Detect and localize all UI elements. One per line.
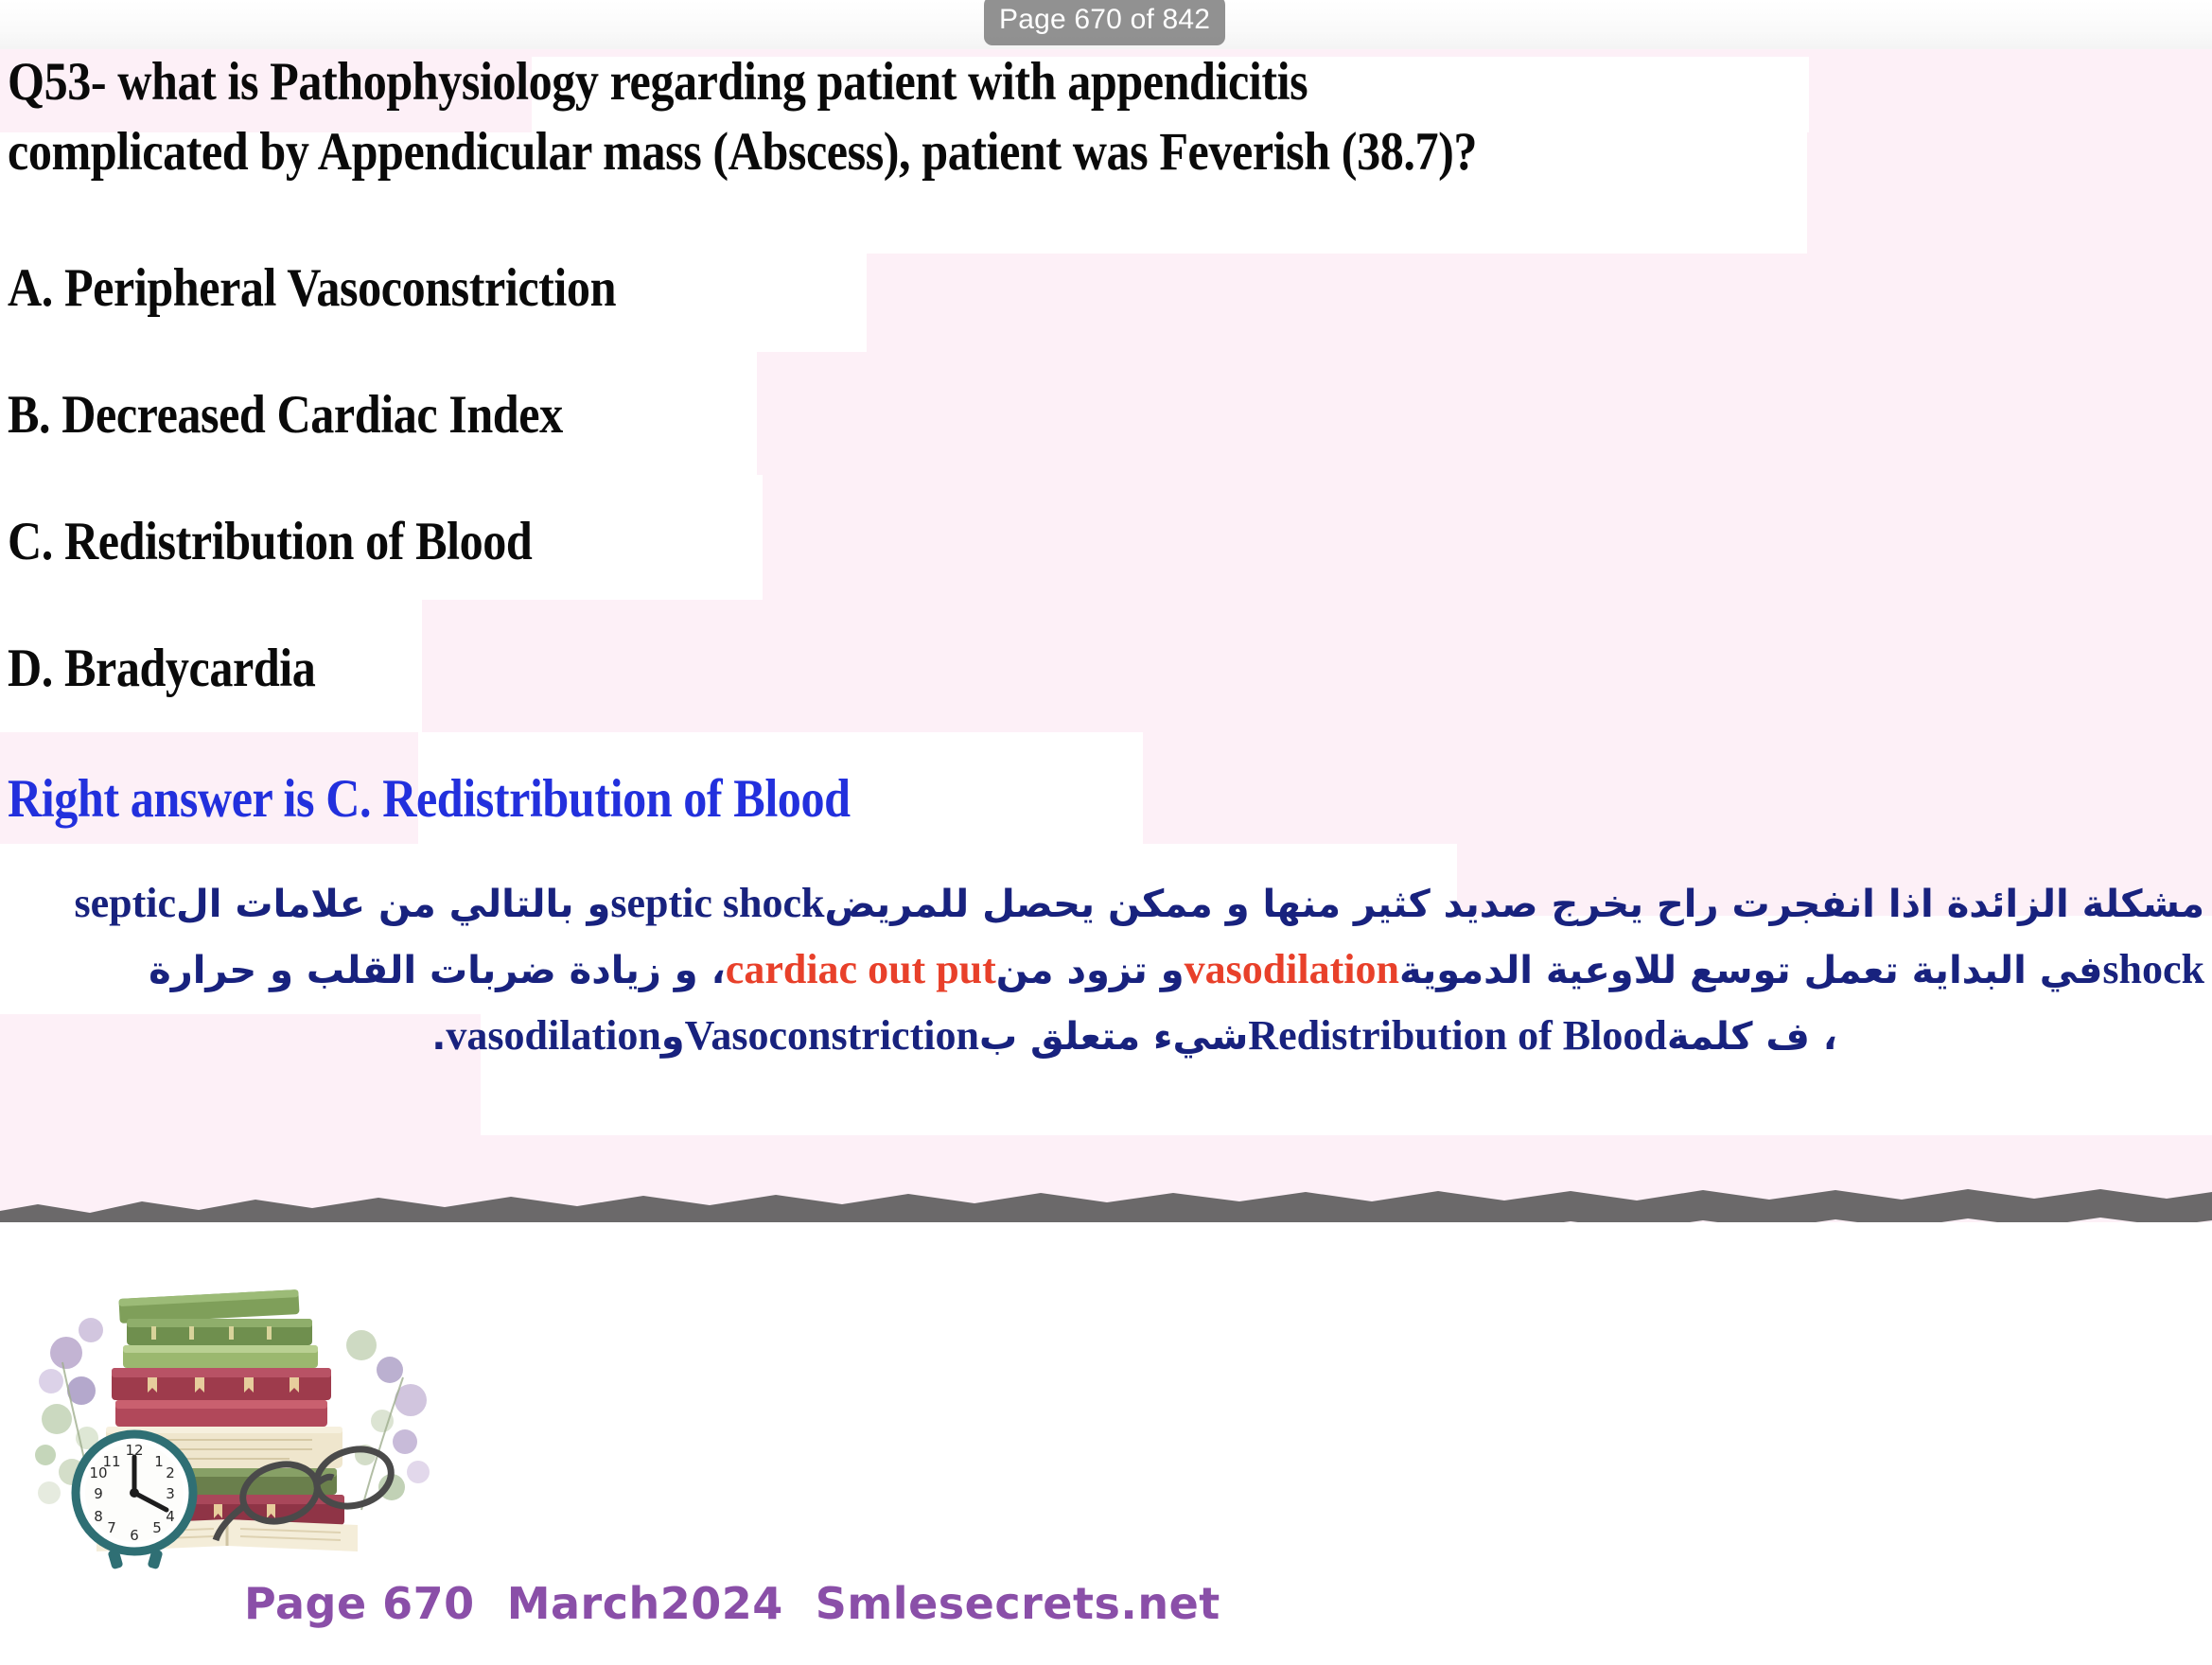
- page-indicator-badge: Page 670 of 842: [984, 0, 1225, 45]
- explanation-line-3-en-vasoconstriction: Vasoconstriction: [685, 1012, 979, 1059]
- explanation-line-3-ar-c: و: [661, 1015, 685, 1059]
- svg-text:3: 3: [166, 1485, 175, 1502]
- svg-text:7: 7: [107, 1519, 116, 1536]
- explanation-line-2-ar-c: ، و زيادة ضربات القلب و حرارة: [149, 949, 726, 992]
- option-c[interactable]: C. Redistribution of Blood: [8, 511, 532, 572]
- svg-text:1: 1: [154, 1453, 164, 1470]
- explanation-line-1-ar-a: مشكلة الزائدة اذا انفجرت راح يخرج صديد ك…: [825, 883, 2205, 926]
- correct-answer-line: Right answer is C. Redistribution of Blo…: [8, 768, 851, 830]
- explanation-line-2-ar-b: و تزود من: [996, 949, 1185, 992]
- svg-text:8: 8: [94, 1508, 103, 1525]
- explanation-block: مشكلة الزائدة اذا انفجرت راح يخرج صديد ك…: [8, 870, 2204, 1069]
- svg-text:2: 2: [166, 1464, 175, 1481]
- explanation-line-1-en-septic: septic: [75, 880, 177, 926]
- svg-text:11: 11: [102, 1453, 120, 1470]
- svg-text:5: 5: [152, 1519, 162, 1536]
- footer-date-label: March2024: [507, 1578, 783, 1629]
- explanation-line-3-ar-b: شيء متعلق ب: [979, 1015, 1248, 1059]
- explanation-line-2-ar-a: في البداية تعمل توسع للاوعية الدموية: [1399, 949, 2102, 992]
- option-a[interactable]: A. Peripheral Vasoconstriction: [8, 257, 616, 319]
- explanation-line-2: shockفي البداية تعمل توسع للاوعية الدموي…: [8, 937, 2204, 1003]
- option-b[interactable]: B. Decreased Cardiac Index: [8, 384, 563, 446]
- question-line-1: Q53- what is Pathophysiology regarding p…: [8, 51, 1308, 113]
- explanation-line-3-ar-a: ، ف كلمة: [1667, 1015, 1837, 1059]
- question-line-2: complicated by Appendicular mass (Absces…: [8, 121, 1477, 183]
- option-d[interactable]: D. Bradycardia: [8, 638, 315, 699]
- footer-page-label: Page 670: [244, 1578, 475, 1629]
- explanation-line-2-en-cardiac-out-put: cardiac out put: [726, 946, 996, 992]
- explanation-line-2-en-vasodilation: vasodilation: [1185, 946, 1399, 992]
- svg-text:9: 9: [94, 1485, 103, 1502]
- document-page: Page 670 of 842 Q53- what is Pathophysio…: [0, 0, 2212, 1665]
- explanation-line-3-en-redistribution: Redistribution of Blood: [1248, 1012, 1667, 1059]
- footer: Page 670March2024Smlesecrets.net: [244, 1578, 1220, 1629]
- svg-text:6: 6: [130, 1527, 139, 1544]
- explanation-line-2-en-shock: shock: [2102, 946, 2204, 992]
- explanation-line-3: ، ف كلمةRedistribution of Bloodشيء متعلق…: [8, 1003, 2204, 1069]
- explanation-line-1: مشكلة الزائدة اذا انفجرت راح يخرج صديد ك…: [8, 870, 2204, 937]
- explanation-line-1-en-septic-shock: septic shock: [610, 880, 824, 926]
- explanation-line-3-en-vasodilation: vasodilation: [446, 1012, 660, 1059]
- explanation-line-1-ar-b: و بالتالي من علامات ال: [176, 883, 610, 926]
- footer-site-label[interactable]: Smlesecrets.net: [816, 1578, 1220, 1629]
- explanation-line-3-ar-d: .: [431, 1015, 446, 1059]
